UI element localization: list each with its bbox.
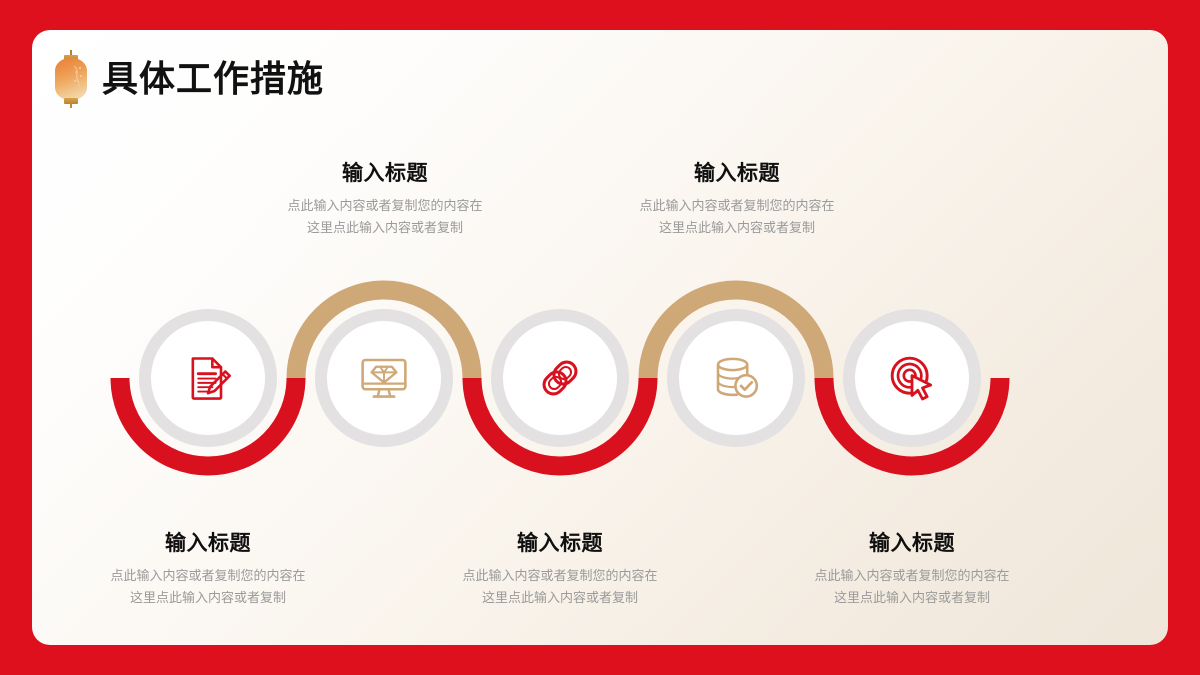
monitor-diamond-icon <box>357 351 411 405</box>
label-block-3: 输入标题 点此输入内容或者复制您的内容在 这里点此输入内容或者复制 <box>410 532 710 608</box>
node-2-inner <box>327 321 441 435</box>
label-block-5: 输入标题 点此输入内容或者复制您的内容在 这里点此输入内容或者复制 <box>762 532 1062 608</box>
item-1-desc: 点此输入内容或者复制您的内容在 这里点此输入内容或者复制 <box>58 565 358 608</box>
item-3-desc-line2: 这里点此输入内容或者复制 <box>410 587 710 608</box>
node-1-inner <box>151 321 265 435</box>
item-1-desc-line1: 点此输入内容或者复制您的内容在 <box>58 565 358 586</box>
label-block-4: 输入标题 点此输入内容或者复制您的内容在 这里点此输入内容或者复制 <box>587 162 887 238</box>
item-5-title: 输入标题 <box>762 532 1062 556</box>
label-block-2: 输入标题 点此输入内容或者复制您的内容在 这里点此输入内容或者复制 <box>235 162 535 238</box>
node-4-inner <box>679 321 793 435</box>
item-4-title: 输入标题 <box>587 162 887 186</box>
database-check-icon <box>709 351 763 405</box>
item-4-desc-line1: 点此输入内容或者复制您的内容在 <box>587 195 887 216</box>
content-panel: 具体工作措施 <box>32 30 1168 645</box>
process-node-2[interactable] <box>315 309 453 447</box>
label-block-1: 输入标题 点此输入内容或者复制您的内容在 这里点此输入内容或者复制 <box>58 532 358 608</box>
node-5-inner <box>855 321 969 435</box>
item-5-desc-line2: 这里点此输入内容或者复制 <box>762 587 1062 608</box>
process-node-3[interactable] <box>491 309 629 447</box>
item-2-title: 输入标题 <box>235 162 535 186</box>
process-node-1[interactable] <box>139 309 277 447</box>
item-4-desc-line2: 这里点此输入内容或者复制 <box>587 217 887 238</box>
item-3-desc: 点此输入内容或者复制您的内容在 这里点此输入内容或者复制 <box>410 565 710 608</box>
item-1-title: 输入标题 <box>58 532 358 556</box>
node-3-inner <box>503 321 617 435</box>
item-1-desc-line2: 这里点此输入内容或者复制 <box>58 587 358 608</box>
process-node-5[interactable] <box>843 309 981 447</box>
process-node-4[interactable] <box>667 309 805 447</box>
item-2-desc: 点此输入内容或者复制您的内容在 这里点此输入内容或者复制 <box>235 195 535 238</box>
item-3-title: 输入标题 <box>410 532 710 556</box>
chain-link-icon <box>532 350 588 406</box>
item-5-desc: 点此输入内容或者复制您的内容在 这里点此输入内容或者复制 <box>762 565 1062 608</box>
item-2-desc-line1: 点此输入内容或者复制您的内容在 <box>235 195 535 216</box>
item-3-desc-line1: 点此输入内容或者复制您的内容在 <box>410 565 710 586</box>
target-cursor-icon <box>884 350 940 406</box>
item-4-desc: 点此输入内容或者复制您的内容在 这里点此输入内容或者复制 <box>587 195 887 238</box>
item-5-desc-line1: 点此输入内容或者复制您的内容在 <box>762 565 1062 586</box>
slide-canvas: 具体工作措施 <box>0 0 1200 675</box>
document-pencil-icon <box>182 352 234 404</box>
item-2-desc-line2: 这里点此输入内容或者复制 <box>235 217 535 238</box>
